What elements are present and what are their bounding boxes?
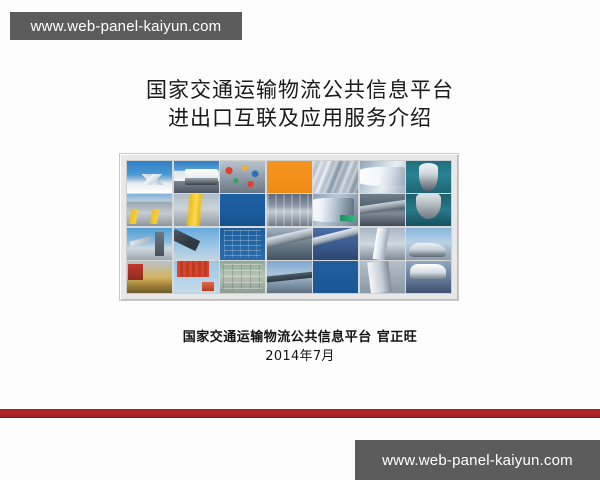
cargo-boxes-photo bbox=[220, 161, 265, 193]
highway-truck-photo bbox=[174, 161, 219, 193]
steel-beam-photo bbox=[267, 261, 312, 293]
watermark-top: www.web-panel-kaiyun.com bbox=[10, 12, 242, 40]
train-nose-photo bbox=[313, 194, 358, 226]
blue-container-stack-photo bbox=[220, 228, 265, 260]
photo-collage-grid bbox=[126, 160, 452, 294]
green-container-stack-photo bbox=[220, 261, 265, 293]
presenter-block: 国家交通运输物流公共信息平台 官正旺 2014年7月 bbox=[0, 328, 600, 366]
high-speed-train-photo bbox=[360, 161, 405, 193]
forklift-photo bbox=[127, 228, 172, 260]
sky-clouds-photo bbox=[406, 228, 451, 260]
deep-blue-color-block bbox=[313, 261, 358, 293]
bridge-pillar-photo bbox=[360, 228, 405, 260]
station-platform-photo bbox=[267, 194, 312, 226]
yellow-lane-markings-photo bbox=[174, 194, 219, 226]
accent-rule-divider bbox=[0, 409, 600, 418]
cargo-ship-deck-photo bbox=[406, 194, 451, 226]
red-container-lift-photo bbox=[174, 261, 219, 293]
concrete-pillar-photo bbox=[360, 261, 405, 293]
orange-color-block bbox=[267, 161, 312, 193]
rail-tracks-photo bbox=[313, 161, 358, 193]
photo-collage-frame bbox=[119, 153, 459, 301]
snow-mountain-photo bbox=[127, 161, 172, 193]
presenter-org-and-name: 国家交通运输物流公共信息平台 官正旺 bbox=[0, 328, 600, 347]
presentation-title-slide: 国家交通运输物流公共信息平台 进出口互联及应用服务介绍 国家交通运输物流公共信息… bbox=[0, 0, 600, 480]
delivery-van-photo bbox=[406, 261, 451, 293]
container-crane-photo bbox=[174, 228, 219, 260]
cargo-ship-photo bbox=[406, 161, 451, 193]
rail-overpass-photo bbox=[360, 194, 405, 226]
blue-color-block bbox=[220, 194, 265, 226]
title-line-2: 进出口互联及应用服务介绍 bbox=[0, 104, 600, 132]
watermark-bottom: www.web-panel-kaiyun.com bbox=[355, 440, 600, 480]
forklift-container-yard-photo bbox=[127, 261, 172, 293]
highway-overpass-photo bbox=[313, 228, 358, 260]
presenter-date: 2014年7月 bbox=[0, 347, 600, 366]
concrete-bridge-photo bbox=[267, 228, 312, 260]
slide-title: 国家交通运输物流公共信息平台 进出口互联及应用服务介绍 bbox=[0, 76, 600, 132]
highway-road-photo bbox=[127, 194, 172, 226]
title-line-1: 国家交通运输物流公共信息平台 bbox=[0, 76, 600, 104]
